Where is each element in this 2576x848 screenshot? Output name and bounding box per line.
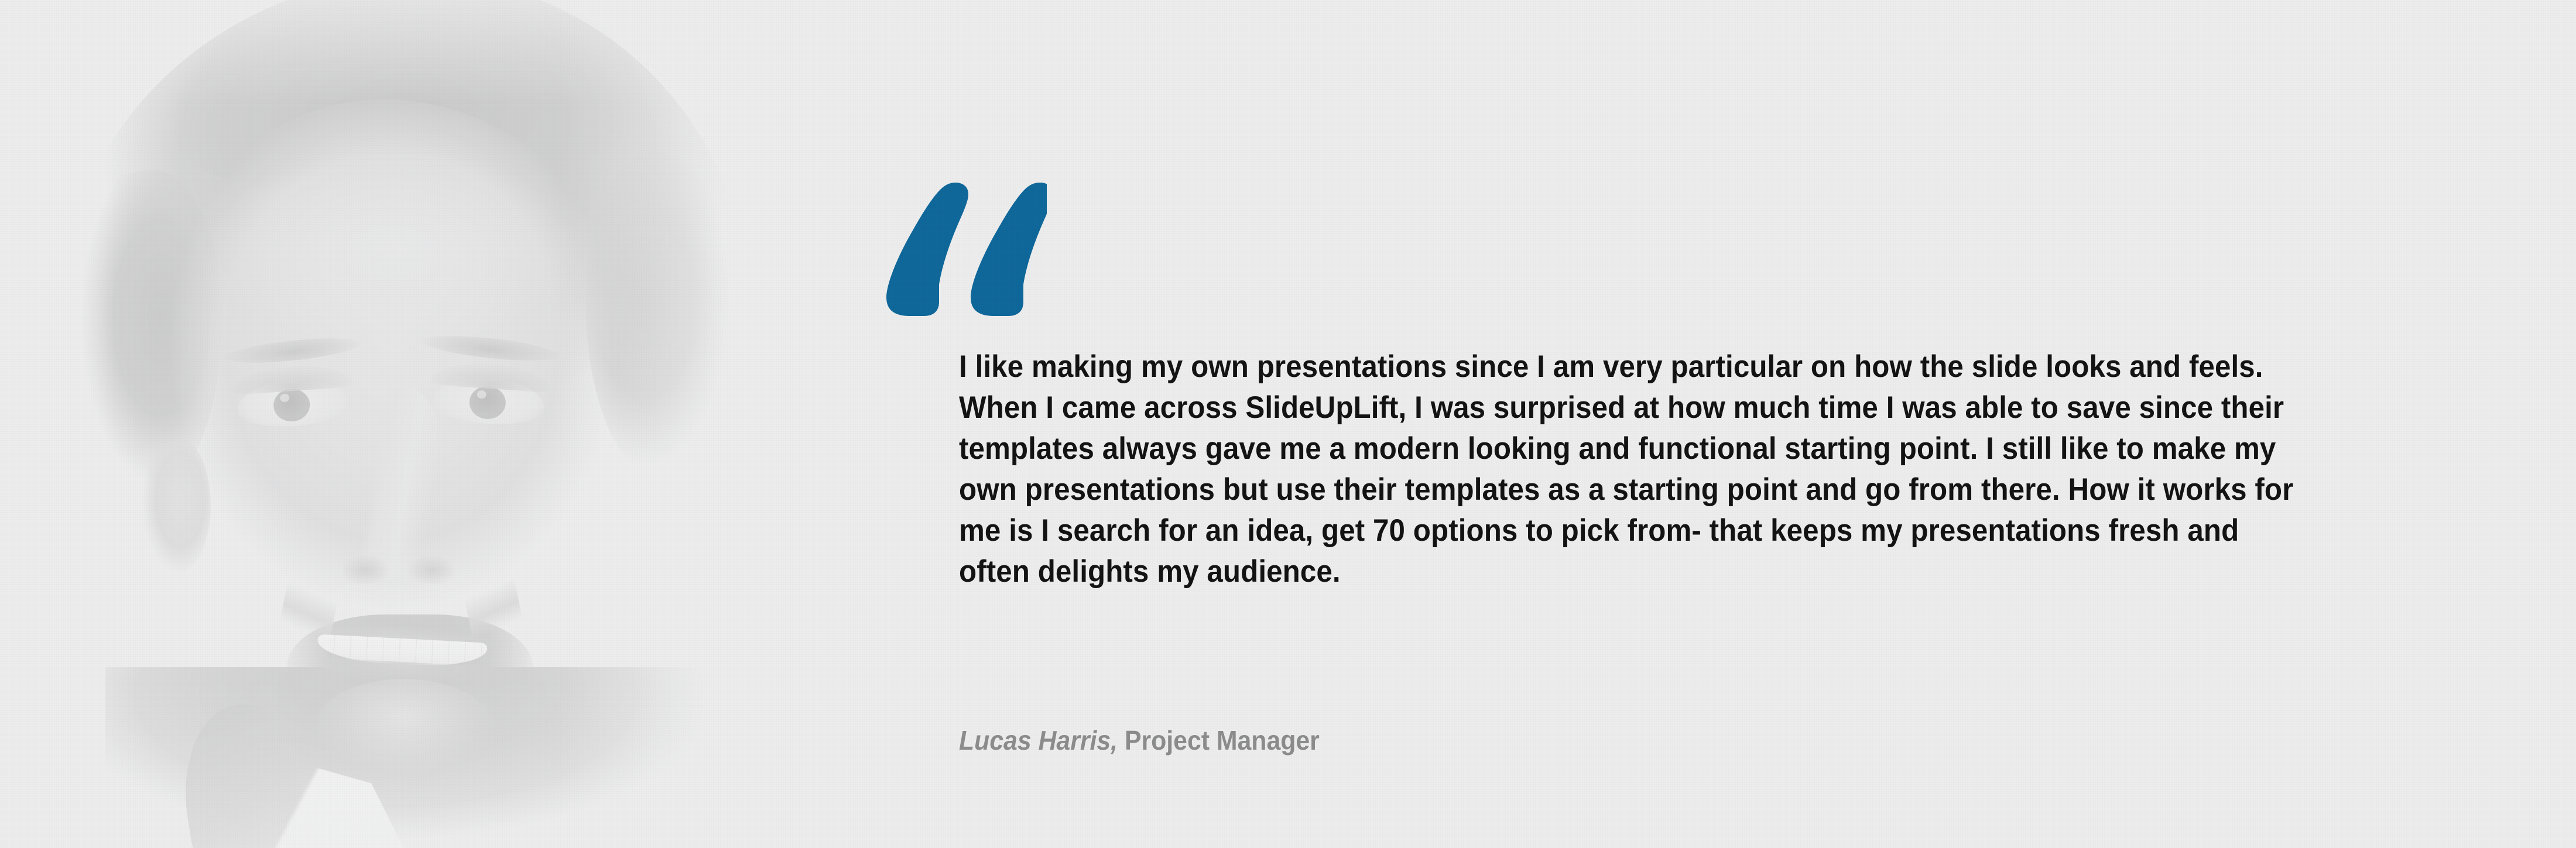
quote-attribution: Lucas Harris, Project Manager — [959, 725, 1320, 756]
portrait-forehead — [211, 152, 574, 345]
attribution-role: Project Manager — [1125, 725, 1320, 756]
portrait-figure — [35, 0, 761, 848]
portrait-eye-right — [432, 374, 546, 427]
portrait-eye-left — [236, 376, 350, 430]
portrait-chin — [310, 679, 498, 790]
testimonial-slide: I like making my own presentations since… — [0, 0, 2576, 848]
quote-text: I like making my own presentations since… — [959, 346, 2304, 592]
portrait-nostrils — [342, 556, 454, 584]
double-quote-open-icon — [877, 181, 1047, 316]
portrait-photo — [0, 0, 820, 848]
portrait-nose — [340, 386, 451, 579]
attribution-name: Lucas Harris, — [959, 725, 1118, 756]
